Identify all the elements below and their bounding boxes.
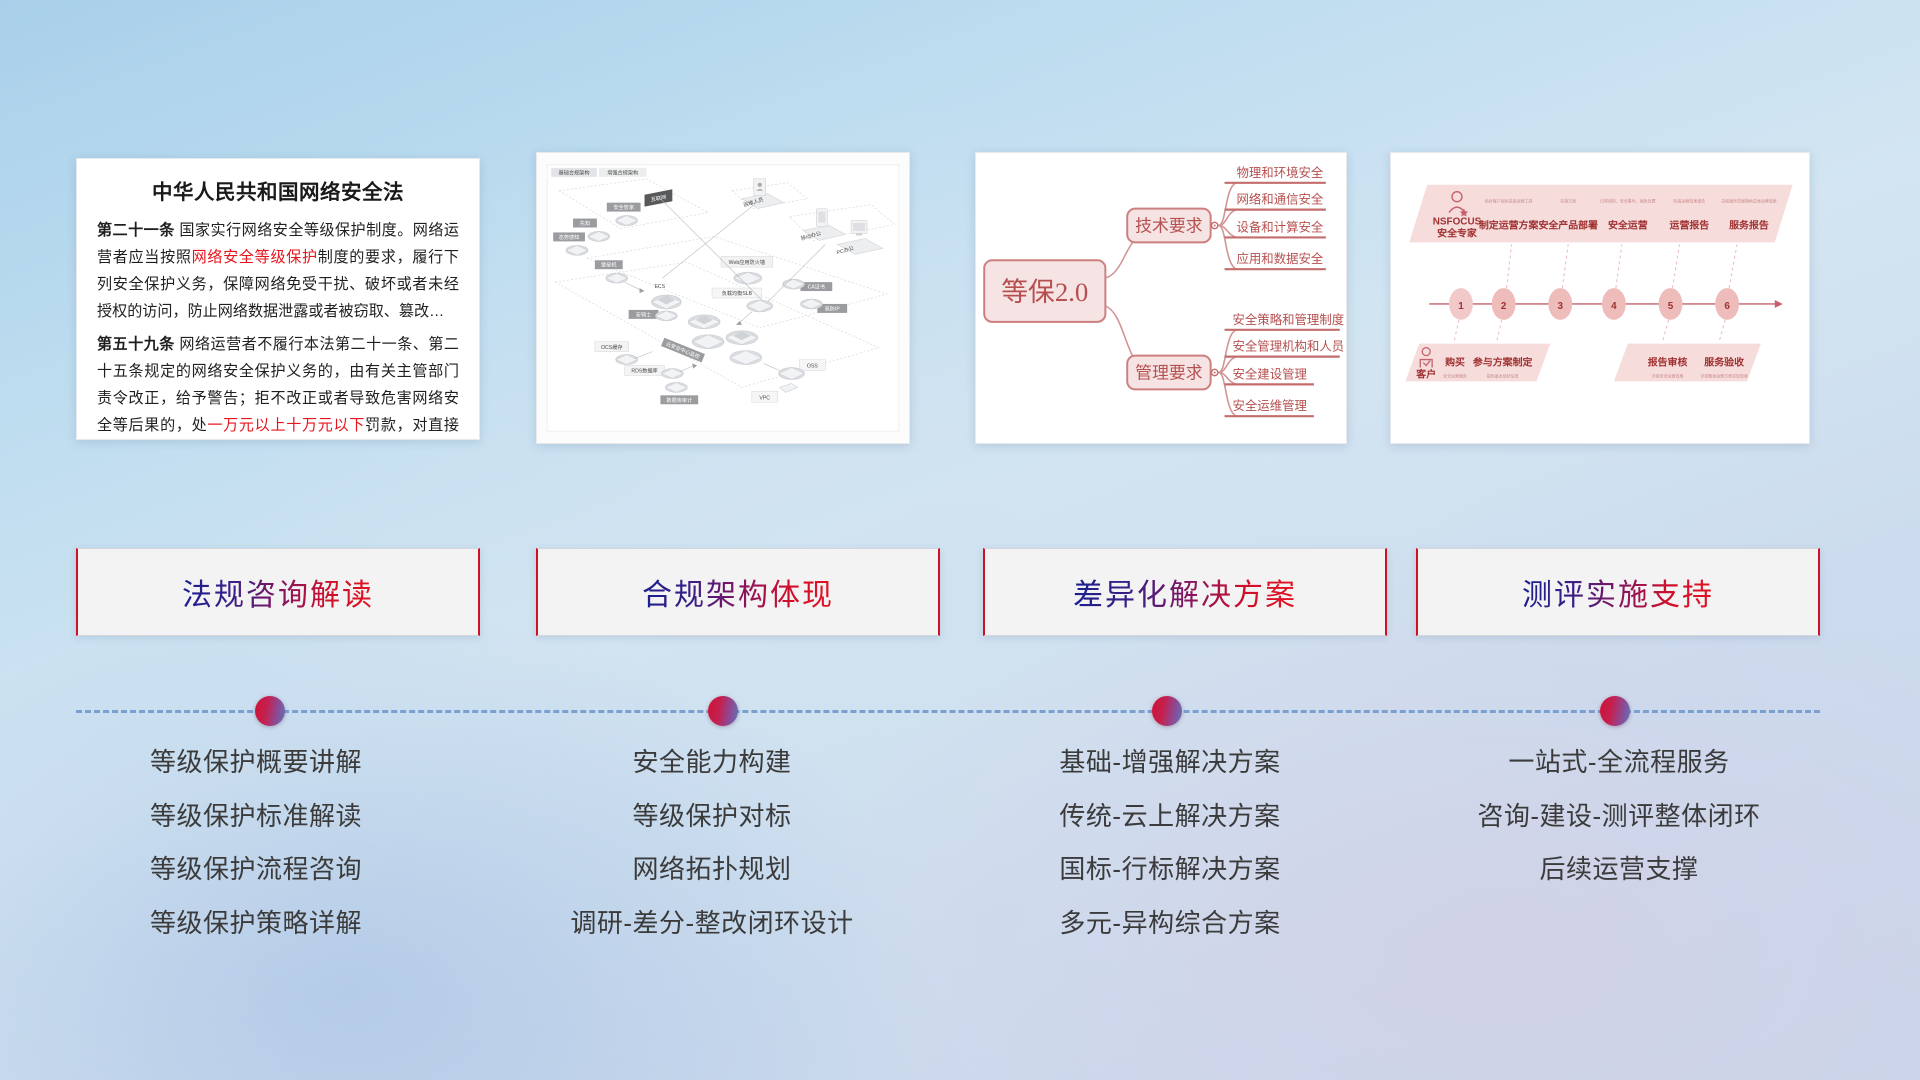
section-title-box-1[interactable]: 法规咨询解读 [76,548,480,636]
section-title-box-2[interactable]: 合规架构体现 [536,548,940,636]
mindmap-svg: .mnode{fill:#f6e4e4;stroke:#cd7f7f;strok… [976,153,1346,443]
section-details-row: 等级保护概要讲解 等级保护标准解读 等级保护流程咨询 等级保护策略详解 安全能力… [0,742,1920,972]
svg-text:RDS数据库: RDS数据库 [631,367,657,375]
mindmap-leaf-2-2: 安全管理机构和人员 [1233,339,1345,354]
timeline-dot-4[interactable] [1600,696,1630,726]
step-marker-6: 6 [1715,288,1739,320]
list-item: 等级保护对标 [512,796,912,838]
step-marker-2: 2 [1492,288,1516,320]
card-mindmap-dengbao[interactable]: .mnode{fill:#f6e4e4;stroke:#cd7f7f;strok… [975,152,1347,444]
mindmap-leaf-1-4: 应用和数据安全 [1236,251,1323,266]
article-59-highlight-1: 一万元以上十万元以下 [207,417,365,434]
mindmap-leaf-1-1: 物理和环境安全 [1236,165,1323,180]
bottom-step-1-label: 购买 [1445,356,1465,369]
section-title-3: 差异化解决方案 [1073,570,1297,614]
bottom-step-4-sub: 评审整体运营方案实现效果 [1700,373,1748,378]
detail-list-4: 一站式-全流程服务 咨询-建设-测评整体闭环 后续运营支撑 [1414,742,1824,903]
svg-text:1: 1 [1458,301,1464,312]
section-title-4: 测评实施支持 [1522,570,1714,614]
bottom-step-1-sub: 安全运营服务 [1443,373,1467,378]
svg-text:3: 3 [1558,301,1564,312]
step-marker-4: 4 [1602,288,1626,320]
detail-list-1: 等级保护概要讲解 等级保护标准解读 等级保护流程咨询 等级保护策略详解 [56,742,456,956]
bottom-step-3-label: 报告审核 [1648,356,1688,369]
list-item: 传统-云上解决方案 [970,796,1370,838]
article-59-label: 第五十九条 [97,336,175,353]
mindmap-leaf-2-3: 安全建设管理 [1233,366,1307,381]
mindmap-branch-2-label: 管理要求 [1135,363,1203,382]
top-step-4-label: 运营报告 [1670,218,1710,231]
top-step-5-label: 服务报告 [1729,218,1769,231]
timeline-connector [0,690,1920,734]
svg-text:Web应用防火墙: Web应用防火墙 [729,258,765,266]
step-marker-3: 3 [1548,288,1572,320]
nsfocus-timeline-diagram: .band{fill:#f7dcdc} .ntxt{font-family:"L… [1391,153,1809,443]
section-title-2: 合规架构体现 [642,570,834,614]
top-step-5-sub: 总结服务范围落地总体运营效果 [1721,199,1777,204]
svg-text:堡垒机: 堡垒机 [601,261,617,269]
bottom-step-4-label: 服务验收 [1704,356,1744,369]
list-item: 多元-异构综合方案 [970,903,1370,945]
top-step-3-sub: 日常巡检、安全事件、高危处置 [1600,199,1656,204]
svg-text:6: 6 [1724,301,1730,312]
top-step-2-sub: 实施方案 [1560,199,1576,204]
svg-text:ECS: ECS [654,284,665,290]
law-article-59: 第五十九条 网络运营者不履行本法第二十一条、第二十五条规定的网络安全保护义务的，… [97,332,459,440]
top-step-1-sub: 结合客户现状采取运营工具 [1485,199,1533,204]
preview-cards-row: 中华人民共和国网络安全法 第二十一条 国家实行网络安全等级保护制度。网络运营者应… [0,152,1920,446]
svg-text:安骑士: 安骑士 [636,310,651,318]
list-item: 等级保护概要讲解 [56,742,456,784]
bottom-step-3-sub: 评审安全运营效果 [1652,373,1684,378]
step-marker-5: 5 [1659,288,1683,320]
mindmap-leaf-1-3: 设备和计算安全 [1236,219,1323,234]
section-title-box-3[interactable]: 差异化解决方案 [983,548,1387,636]
mindmap-leaf-2-1: 安全策略和管理制度 [1233,312,1345,327]
list-item: 国标-行标解决方案 [970,849,1370,891]
svg-text:OSS: OSS [807,364,818,370]
nsfocus-svg: .band{fill:#f7dcdc} .ntxt{font-family:"L… [1391,153,1809,443]
law-content: 中华人民共和国网络安全法 第二十一条 国家实行网络安全等级保护制度。网络运营者应… [77,159,479,440]
svg-text:4: 4 [1611,301,1617,312]
bottom-step-2-sub: 提供基本现状信息 [1487,373,1519,378]
mindmap-branch-1-label: 技术要求 [1135,216,1203,235]
list-item: 安全能力构建 [512,742,912,784]
svg-text:5: 5 [1668,301,1674,312]
timeline-dot-2[interactable] [708,696,738,726]
tab-basic-architecture: 基础合规架构 [559,168,590,176]
top-step-2-label: 安全产品部署 [1538,218,1598,231]
svg-text:安全管家: 安全管家 [613,203,634,211]
detail-list-2: 安全能力构建 等级保护对标 网络拓扑规划 调研-差分-整改闭环设计 [512,742,912,956]
list-item: 等级保护策略详解 [56,903,456,945]
top-step-3-label: 安全运营 [1608,218,1648,231]
svg-text:数据库审计: 数据库审计 [666,396,692,404]
list-item: 一站式-全流程服务 [1414,742,1824,784]
mindmap-leaf-1-2: 网络和通信安全 [1236,192,1323,207]
architecture-diagram: .zn{fill:#e9eaec;stroke:#d6d8da;stroke-w… [537,153,909,443]
timeline-dot-3[interactable] [1152,696,1182,726]
list-item: 等级保护标准解读 [56,796,456,838]
svg-text:负载均衡SLB: 负载均衡SLB [722,289,753,297]
list-item: 咨询-建设-测评整体闭环 [1414,796,1824,838]
section-title-box-4[interactable]: 测评实施支持 [1416,548,1820,636]
nsfocus-expert-line2: 安全专家 [1437,226,1477,239]
list-item: 等级保护流程咨询 [56,849,456,891]
step-marker-1: 1 [1449,288,1473,320]
card-cybersecurity-law[interactable]: 中华人民共和国网络安全法 第二十一条 国家实行网络安全等级保护制度。网络运营者应… [76,158,480,440]
list-item: 基础-增强解决方案 [970,742,1370,784]
svg-text:VPC: VPC [759,395,770,401]
article-21-label: 第二十一条 [97,222,175,239]
list-item: 网络拓扑规划 [512,849,912,891]
timeline-dashed-line [76,710,1820,713]
law-title: 中华人民共和国网络安全法 [97,175,459,205]
mindmap-diagram: .mnode{fill:#f6e4e4;stroke:#cd7f7f;strok… [976,153,1346,443]
mindmap-root-label: 等保2.0 [1001,277,1088,307]
card-nsfocus-process[interactable]: .band{fill:#f7dcdc} .ntxt{font-family:"L… [1390,152,1810,444]
timeline-dot-1[interactable] [255,696,285,726]
section-title-1: 法规咨询解读 [182,570,374,614]
bottom-step-2-label: 参与方案制定 [1473,356,1533,369]
tab-enhanced-architecture: 增强合规架构 [607,168,638,176]
svg-text:CA证书: CA证书 [808,283,825,291]
law-article-21: 第二十一条 国家实行网络安全等级保护制度。网络运营者应当按照网络安全等级保护制度… [97,218,459,325]
architecture-svg: .zn{fill:#e9eaec;stroke:#d6d8da;stroke-w… [537,153,909,443]
svg-text:先知: 先知 [580,219,590,227]
list-item: 调研-差分-整改闭环设计 [512,903,912,945]
top-step-4-sub: 阶段运营效果报告 [1674,199,1706,204]
list-item: 后续运营支撑 [1414,849,1824,891]
svg-text:OCS缓存: OCS缓存 [601,343,623,351]
svg-text:高防IP: 高防IP [825,304,841,312]
section-titles-row: 法规咨询解读 合规架构体现 差异化解决方案 测评实施支持 [0,548,1920,638]
svg-text:态势感知: 态势感知 [559,233,580,241]
top-step-1-label: 制定运营方案 [1479,218,1540,231]
mindmap-leaf-2-4: 安全运维管理 [1233,398,1307,413]
article-21-highlight: 网络安全等级保护 [192,249,318,266]
svg-text:2: 2 [1501,301,1507,312]
nsfocus-expert-line1: NSFOCUS [1433,217,1482,228]
detail-list-3: 基础-增强解决方案 传统-云上解决方案 国标-行标解决方案 多元-异构综合方案 [970,742,1370,956]
card-cloud-architecture[interactable]: .zn{fill:#e9eaec;stroke:#d6d8da;stroke-w… [536,152,910,444]
customer-label: 客户 [1415,367,1436,380]
